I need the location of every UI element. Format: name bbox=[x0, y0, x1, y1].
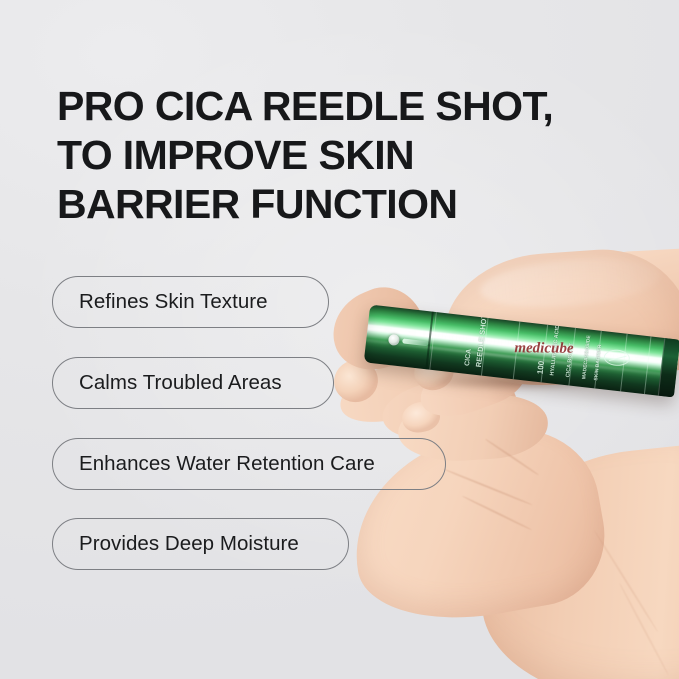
benefit-pill-enhances-water-retention-care: Enhances Water Retention Care bbox=[52, 438, 446, 490]
tube-label-line: SKIN BARRIER bbox=[593, 344, 603, 381]
benefit-pill-refines-skin-texture: Refines Skin Texture bbox=[52, 276, 329, 328]
tube-brand-script: medicube bbox=[514, 340, 573, 358]
tube-label-line: CICA bbox=[464, 349, 473, 367]
benefit-label: Calms Troubled Areas bbox=[79, 373, 282, 394]
product-marketing-image: CICA REEDLE SHOT 100 HYALURONIC ACID CIC… bbox=[0, 0, 679, 679]
page-title: PRO CICA REEDLE SHOT, TO IMPROVE SKIN BA… bbox=[57, 82, 597, 229]
tube-label-line: 100 bbox=[536, 360, 546, 374]
benefit-pill-calms-troubled-areas: Calms Troubled Areas bbox=[52, 357, 334, 409]
benefit-pill-provides-deep-moisture: Provides Deep Moisture bbox=[52, 518, 349, 570]
tube-label-line: MADECASSOSIDE bbox=[581, 335, 592, 380]
benefit-label: Refines Skin Texture bbox=[79, 292, 268, 313]
benefit-label: Enhances Water Retention Care bbox=[79, 454, 375, 475]
tube-label-line: REEDLE SHOT bbox=[474, 314, 489, 368]
tube-emblem-icon bbox=[603, 349, 630, 367]
benefit-label: Provides Deep Moisture bbox=[79, 534, 299, 555]
